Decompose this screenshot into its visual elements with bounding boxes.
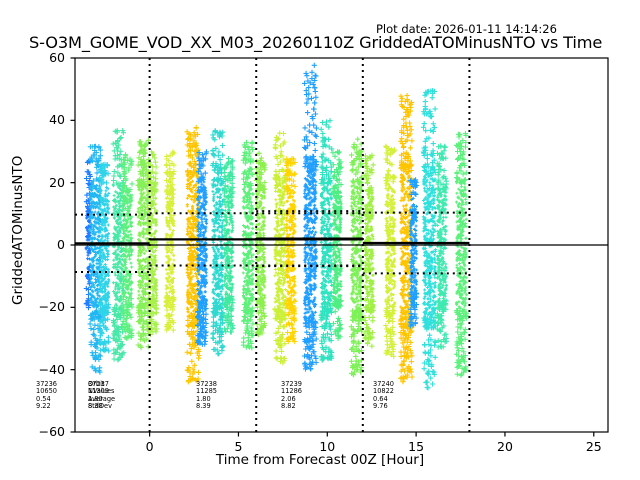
y-tick-label: 20 [23, 175, 65, 190]
x-tick-label: 20 [485, 439, 525, 454]
segment-stats: 37240 10822 0.64 9.76 [373, 381, 394, 411]
x-tick-label: 5 [218, 439, 258, 454]
y-tick-label: 0 [23, 237, 65, 252]
y-tick-label: 60 [23, 50, 65, 65]
x-tick-label: 10 [307, 439, 347, 454]
y-tick-label: −20 [23, 299, 65, 314]
plot-canvas: Plot date: 2026-01-11 14:14:26 S-O3M_GOM… [0, 0, 640, 480]
y-tick-label: −60 [23, 424, 65, 439]
y-tick-label: 40 [23, 112, 65, 127]
segment-stats: 37238 11285 1.80 8.39 [196, 381, 217, 411]
segment-stats: 37239 11286 2.06 8.82 [281, 381, 302, 411]
stat-row-labels: Orbit NValues Average StdDev [88, 381, 115, 411]
x-tick-label: 15 [396, 439, 436, 454]
y-tick-label: −40 [23, 362, 65, 377]
x-tick-label: 25 [574, 439, 614, 454]
scatter-points [84, 63, 469, 391]
x-tick-label: 0 [130, 439, 170, 454]
segment-stats: 37236 10650 0.54 9.22 [36, 381, 57, 411]
